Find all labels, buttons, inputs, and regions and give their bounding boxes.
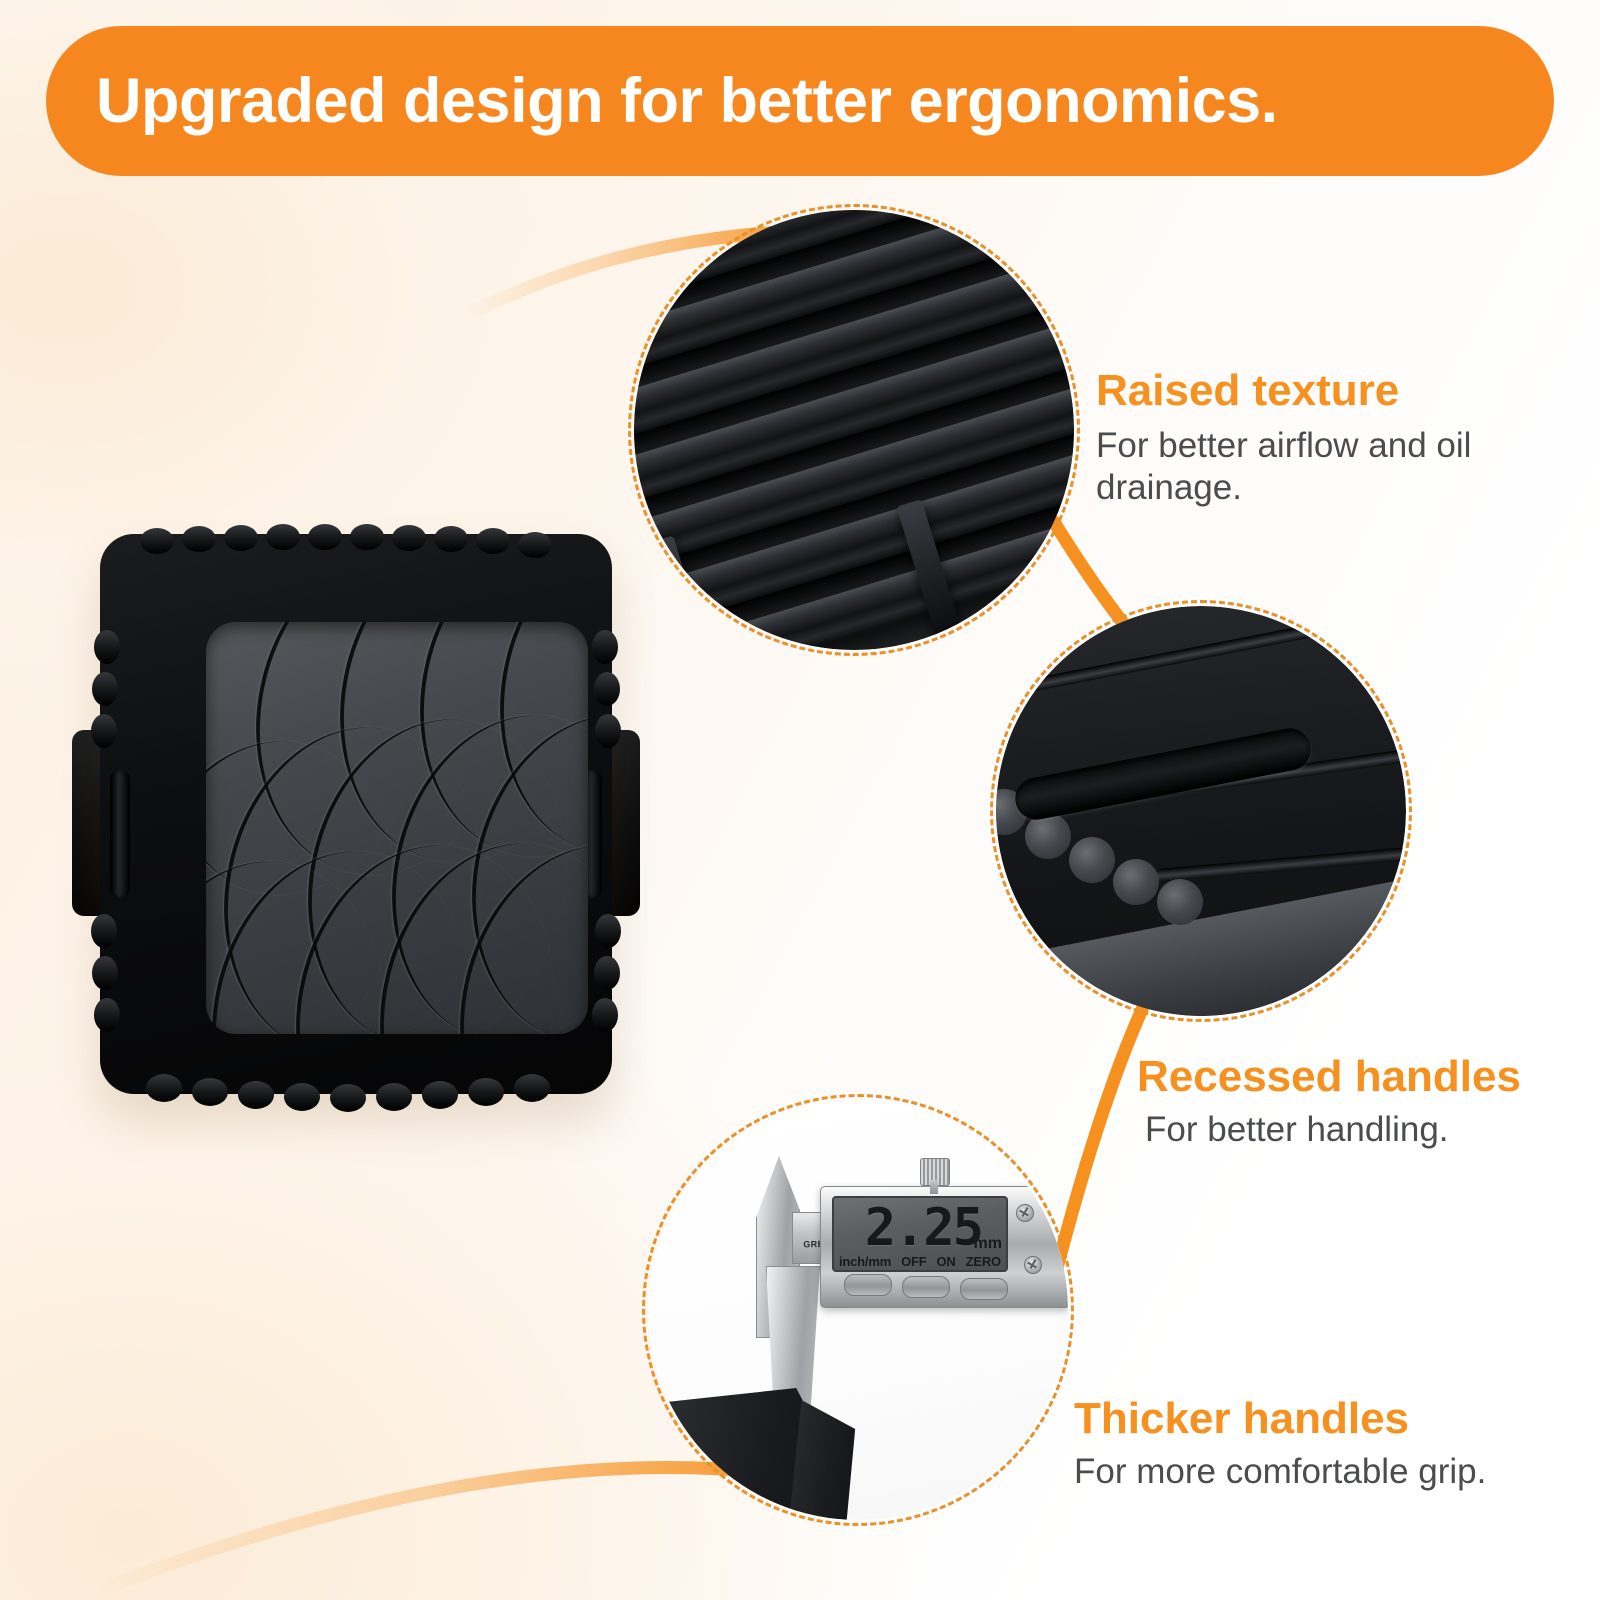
legend-inch-mm: inch/mm bbox=[839, 1254, 891, 1269]
digital-caliper-closeup-image: GREENER 0 2.25 mm inch/mm OFF ON ZERO bbox=[648, 1100, 1068, 1520]
caliper-button-legend: inch/mm OFF ON ZERO bbox=[834, 1254, 1006, 1269]
feature-raised-texture-title: Raised texture bbox=[1096, 368, 1526, 415]
handle-scene bbox=[996, 606, 1406, 1016]
feature-thicker-handles: Thicker handles For more comfortable gri… bbox=[1074, 1396, 1574, 1493]
header-banner: Upgraded design for better ergonomics. bbox=[46, 26, 1554, 176]
feature-recessed-handles: Recessed handles For better handling. bbox=[1137, 1054, 1600, 1151]
legend-zero: ZERO bbox=[966, 1254, 1001, 1269]
caliper-button-zero[interactable] bbox=[960, 1278, 1008, 1300]
caliper-screw-top bbox=[1016, 1204, 1034, 1222]
callout-thicker-handle-caliper: GREENER 0 2.25 mm inch/mm OFF ON ZERO bbox=[648, 1100, 1068, 1520]
recessed-handle-closeup-image bbox=[996, 606, 1406, 1016]
callout-raised-texture bbox=[634, 210, 1074, 650]
infographic-canvas: Upgraded design for better ergonomics. bbox=[0, 0, 1600, 1600]
page-title: Upgraded design for better ergonomics. bbox=[96, 70, 1278, 133]
caliper-button-on-off[interactable] bbox=[902, 1276, 950, 1298]
tray-base-surface bbox=[206, 622, 588, 1034]
feature-thicker-handles-desc: For more comfortable grip. bbox=[1074, 1451, 1574, 1494]
legend-off: OFF bbox=[901, 1254, 926, 1269]
feature-recessed-handles-desc: For better handling. bbox=[1137, 1109, 1600, 1152]
product-hero-image bbox=[66, 520, 646, 1120]
legend-on: ON bbox=[937, 1254, 956, 1269]
ridge-scene bbox=[634, 210, 1074, 650]
tray-left-handle-slot bbox=[110, 770, 130, 898]
tray-body bbox=[100, 534, 612, 1094]
feature-recessed-handles-title: Recessed handles bbox=[1137, 1054, 1600, 1101]
feature-raised-texture: Raised texture For better airflow and oi… bbox=[1096, 368, 1526, 510]
raised-texture-closeup-image bbox=[634, 210, 1074, 650]
caliper-button-inch-mm[interactable] bbox=[844, 1274, 892, 1296]
caliper-screw-bottom bbox=[1024, 1256, 1042, 1274]
caliper-lcd-screen: 2.25 mm inch/mm OFF ON ZERO bbox=[832, 1196, 1008, 1272]
connector-handle-to-caliper bbox=[1056, 1005, 1144, 1272]
feature-thicker-handles-title: Thicker handles bbox=[1074, 1396, 1574, 1443]
feature-raised-texture-desc: For better airflow and oil drainage. bbox=[1096, 425, 1526, 510]
caliper-reading-unit: mm bbox=[974, 1235, 1002, 1253]
measured-handle-sample-edge bbox=[788, 1400, 884, 1520]
caliper-reading-value: 2.25 bbox=[865, 1202, 982, 1254]
callout-recessed-handle bbox=[996, 606, 1406, 1016]
